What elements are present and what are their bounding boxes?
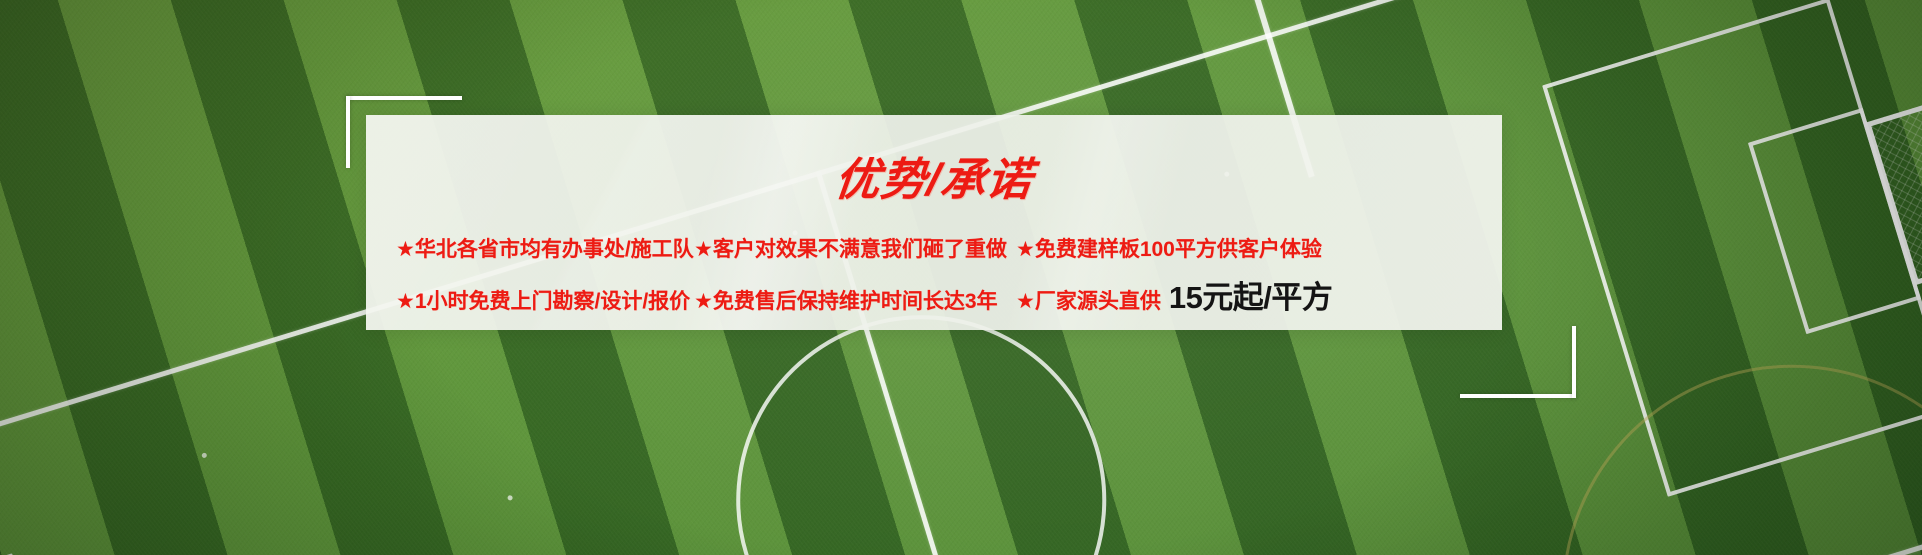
bullet-text: 客户对效果不满意我们砸了重做: [713, 238, 1007, 261]
bullet-item: ★华北各省市均有办事处/施工队: [396, 238, 672, 261]
bullet-row-1: ★华北各省市均有办事处/施工队 ★客户对效果不满意我们砸了重做 ★免费建样板10…: [366, 238, 1502, 261]
bullet-text: 免费售后保持维护时间长达3年: [713, 290, 998, 313]
bullet-text: 免费建样板100平方供客户体验: [1035, 238, 1322, 261]
bullet-star-icon: ★: [1016, 290, 1035, 313]
bullet-star-icon: ★: [396, 238, 415, 261]
corner-bracket-bottom-right: [1460, 326, 1576, 398]
promo-banner: 优势/承诺 ★华北各省市均有办事处/施工队 ★客户对效果不满意我们砸了重做 ★免…: [0, 0, 1922, 555]
bullet-item: ★1小时免费上门勘察/设计/报价: [396, 290, 672, 313]
bullet-star-icon: ★: [1016, 238, 1035, 261]
bullet-star-icon: ★: [396, 290, 415, 313]
bullet-item: ★免费建样板100平方供客户体验: [1016, 238, 1322, 261]
bullet-item: ★免费售后保持维护时间长达3年: [694, 290, 994, 313]
banner-title: 优势/承诺: [833, 157, 1035, 202]
bullet-text: 1小时免费上门勘察/设计/报价: [415, 290, 690, 313]
bullet-star-icon: ★: [694, 290, 713, 313]
price-highlight: 15元起/平方: [1169, 280, 1333, 315]
content-panel: 优势/承诺 ★华北各省市均有办事处/施工队 ★客户对效果不满意我们砸了重做 ★免…: [366, 115, 1502, 330]
bullet-item: ★客户对效果不满意我们砸了重做: [694, 238, 994, 261]
bullet-text: 厂家源头直供: [1035, 290, 1161, 313]
bullet-text: 华北各省市均有办事处/施工队: [415, 238, 694, 261]
bullet-row-2: ★1小时免费上门勘察/设计/报价 ★免费售后保持维护时间长达3年 ★厂家源头直供…: [366, 281, 1502, 315]
bullet-item-price: ★厂家源头直供15元起/平方: [1016, 281, 1332, 315]
bullet-grid: ★华北各省市均有办事处/施工队 ★客户对效果不满意我们砸了重做 ★免费建样板10…: [366, 238, 1502, 315]
bullet-star-icon: ★: [694, 238, 713, 261]
